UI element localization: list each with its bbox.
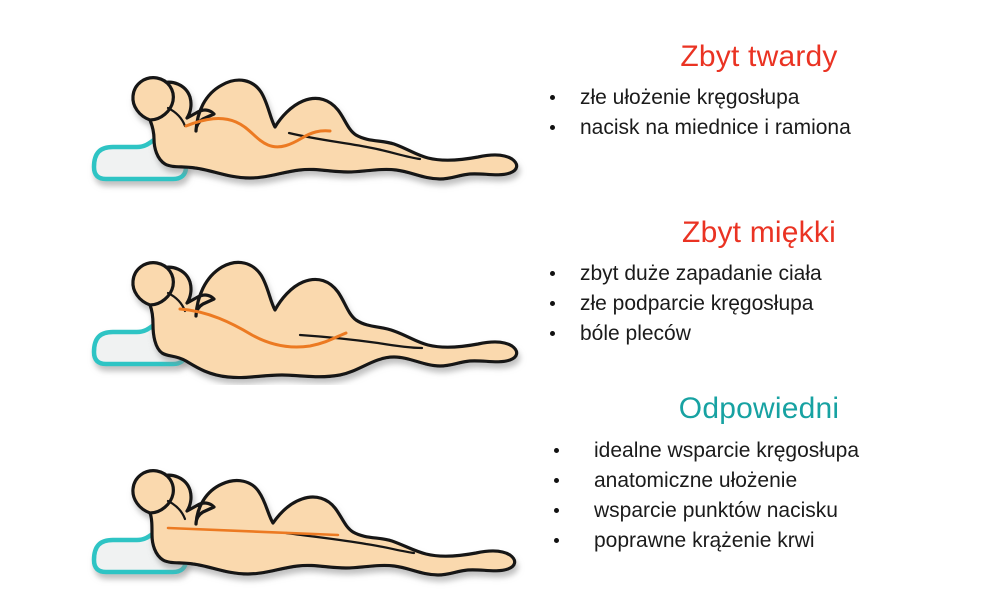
bullet-dot-icon xyxy=(554,448,559,453)
sleeper-figure-soft-svg xyxy=(0,185,540,385)
list-item: bóle pleców xyxy=(550,319,822,349)
section-too-soft: Zbyt miękki zbyt duże zapadanie ciała zł… xyxy=(0,200,1000,400)
bullet-dot-icon xyxy=(554,538,559,543)
text-block-too-soft: Zbyt miękki zbyt duże zapadanie ciała zł… xyxy=(540,200,1000,400)
mattress-firmness-infographic: Zbyt twardy złe ułożenie kręgosłupa naci… xyxy=(0,0,1000,600)
bullet-text: złe podparcie kręgosłupa xyxy=(580,289,813,319)
section-title-too-soft: Zbyt miękki xyxy=(540,216,978,250)
bullet-list-correct: idealne wsparcie kręgosłupa anatomiczne … xyxy=(554,436,859,556)
list-item: idealne wsparcie kręgosłupa xyxy=(554,436,859,466)
list-item: nacisk na miednice i ramiona xyxy=(550,113,851,143)
human-body-shape xyxy=(133,262,517,377)
bullet-dot-icon xyxy=(550,271,555,276)
illustration-correct xyxy=(0,400,540,600)
sleeper-figure-firm-svg xyxy=(0,0,540,200)
section-too-firm: Zbyt twardy złe ułożenie kręgosłupa naci… xyxy=(0,0,1000,200)
text-block-correct: Odpowiedni idealne wsparcie kręgosłupa a… xyxy=(540,400,1000,600)
bullet-text: anatomiczne ułożenie xyxy=(594,466,797,496)
section-correct: Odpowiedni idealne wsparcie kręgosłupa a… xyxy=(0,400,1000,600)
bullet-text: zbyt duże zapadanie ciała xyxy=(580,259,822,289)
human-body-shape xyxy=(133,78,517,179)
section-title-correct: Odpowiedni xyxy=(540,392,978,426)
bullet-list-too-soft: zbyt duże zapadanie ciała złe podparcie … xyxy=(550,259,822,349)
bullet-text: poprawne krążenie krwi xyxy=(594,526,815,556)
bullet-text: wsparcie punktów nacisku xyxy=(594,496,838,526)
bullet-text: idealne wsparcie kręgosłupa xyxy=(594,436,859,466)
section-title-too-firm: Zbyt twardy xyxy=(540,40,978,74)
bullet-list-too-firm: złe ułożenie kręgosłupa nacisk na miedni… xyxy=(550,83,851,143)
bullet-dot-icon xyxy=(554,508,559,513)
list-item: wsparcie punktów nacisku xyxy=(554,496,859,526)
list-item: zbyt duże zapadanie ciała xyxy=(550,259,822,289)
list-item: złe podparcie kręgosłupa xyxy=(550,289,822,319)
bullet-dot-icon xyxy=(550,95,555,100)
illustration-too-firm xyxy=(0,0,540,200)
illustration-too-soft xyxy=(0,200,540,400)
text-block-too-firm: Zbyt twardy złe ułożenie kręgosłupa naci… xyxy=(540,0,1000,200)
bullet-text: bóle pleców xyxy=(580,319,691,349)
human-body-shape xyxy=(133,471,515,575)
bullet-dot-icon xyxy=(550,125,555,130)
sleeper-figure-correct-svg xyxy=(0,393,540,593)
bullet-dot-icon xyxy=(550,331,555,336)
list-item: złe ułożenie kręgosłupa xyxy=(550,83,851,113)
list-item: poprawne krążenie krwi xyxy=(554,526,859,556)
bullet-text: nacisk na miednice i ramiona xyxy=(580,113,851,143)
bullet-text: złe ułożenie kręgosłupa xyxy=(580,83,799,113)
bullet-dot-icon xyxy=(554,478,559,483)
list-item: anatomiczne ułożenie xyxy=(554,466,859,496)
bullet-dot-icon xyxy=(550,301,555,306)
